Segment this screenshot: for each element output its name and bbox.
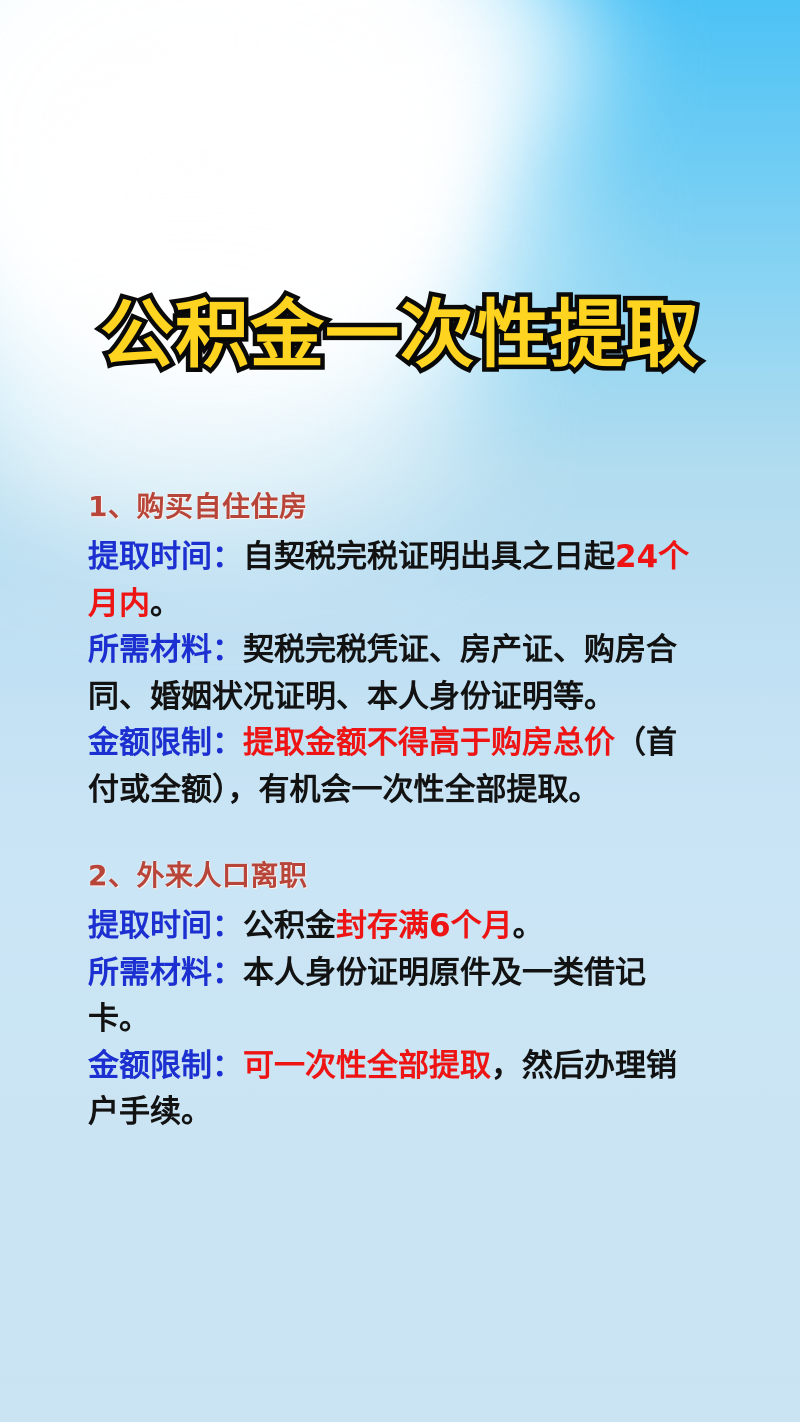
content-line: 所需材料：本人身份证明原件及一类借记卡。 [88,950,694,1043]
field-label: 提取时间： [88,539,243,575]
section-heading: 2、外来人口离职 [88,855,694,897]
cloud-shape [330,0,630,160]
field-label: 金额限制： [88,1048,243,1084]
field-label: 所需材料： [88,955,243,991]
cloud-shape [150,0,570,190]
highlight-text: 提取金额不得高于购房总价 [243,725,615,761]
field-value: 自契税完税证明出具之日起 [243,539,615,575]
field-label: 所需材料： [88,632,243,668]
cloud-shape [0,0,500,340]
poster-title: 公积金一次性提取 [100,296,700,374]
poster-canvas: 公积金一次性提取 1、购买自住住房提取时间：自契税完税证明出具之日起24个月内。… [0,0,800,1422]
field-value: 公积金 [243,908,336,944]
content-line: 提取时间：公积金封存满6个月。 [88,903,694,950]
field-value: 。 [150,586,181,622]
content-line: 所需材料：契税完税凭证、房产证、购房合同、婚姻状况证明、本人身份证明等。 [88,627,694,720]
content-body: 1、购买自住住房提取时间：自契税完税证明出具之日起24个月内。所需材料：契税完税… [88,486,694,1136]
content-section: 2、外来人口离职提取时间：公积金封存满6个月。所需材料：本人身份证明原件及一类借… [88,855,694,1136]
highlight-text: 封存满6个月 [336,908,513,944]
field-label: 金额限制： [88,725,243,761]
content-line: 金额限制：提取金额不得高于购房总价（首付或全额），有机会一次性全部提取。 [88,720,694,813]
highlight-text: 可一次性全部提取 [243,1048,491,1084]
field-value: 。 [513,908,544,944]
field-label: 提取时间： [88,908,243,944]
title-container: 公积金一次性提取 [0,296,800,374]
content-line: 提取时间：自契税完税证明出具之日起24个月内。 [88,534,694,627]
section-heading: 1、购买自住住房 [88,486,694,528]
content-section: 1、购买自住住房提取时间：自契税完税证明出具之日起24个月内。所需材料：契税完税… [88,486,694,813]
content-line: 金额限制：可一次性全部提取，然后办理销户手续。 [88,1043,694,1136]
